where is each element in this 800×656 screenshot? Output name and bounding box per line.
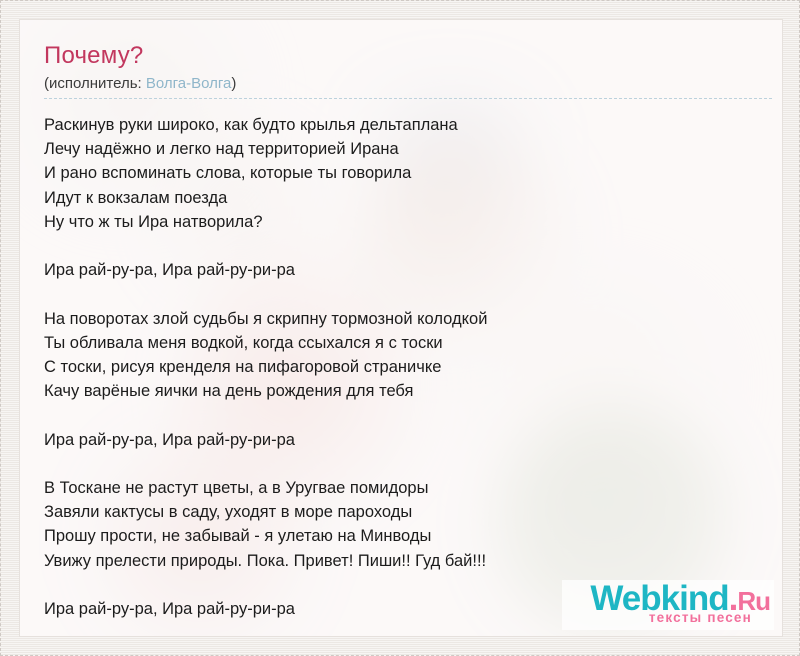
title-separator: [44, 98, 772, 99]
site-logo[interactable]: Webkind.Ru тексты песен: [562, 580, 774, 630]
lyric-line: Завяли кактусы в саду, уходят в море пар…: [44, 500, 758, 524]
artist-prefix-label: (исполнитель:: [44, 75, 146, 92]
lyric-line-blank: [44, 452, 758, 476]
card-content: Почему? (исполнитель: Волга-Волга) Раски…: [20, 20, 782, 636]
lyric-line: Ира рай-ру-ра, Ира рай-ру-ри-ра: [44, 258, 758, 282]
lyric-line: Раскинув руки широко, как будто крылья д…: [44, 113, 758, 137]
lyric-line-blank: [44, 234, 758, 258]
lyric-line: На поворотах злой судьбы я скрипну тормо…: [44, 307, 758, 331]
lyric-line-blank: [44, 282, 758, 306]
lyric-line-blank: [44, 403, 758, 427]
lyric-line: В Тоскане не растут цветы, а в Уругвае п…: [44, 476, 758, 500]
artist-link[interactable]: Волга-Волга: [146, 75, 232, 92]
lyric-line: Лечу надёжно и легко над территорией Ира…: [44, 137, 758, 161]
song-title: Почему?: [44, 42, 758, 70]
lyric-line: И рано вспоминать слова, которые ты гово…: [44, 161, 758, 185]
lyric-line: Идут к вокзалам поезда: [44, 186, 758, 210]
artist-suffix-label: ): [231, 75, 236, 92]
lyric-line: Качу варёные яички на день рождения для …: [44, 379, 758, 403]
lyrics-card: Почему? (исполнитель: Волга-Волга) Раски…: [19, 19, 783, 637]
page-frame: Почему? (исполнитель: Волга-Волга) Раски…: [0, 0, 800, 656]
lyric-line: С тоски, рисуя кренделя на пифагоровой с…: [44, 355, 758, 379]
lyric-line: Увижу прелести природы. Пока. Привет! Пи…: [44, 549, 758, 573]
artist-line: (исполнитель: Волга-Волга): [44, 74, 758, 93]
lyrics-body: Раскинув руки широко, как будто крылья д…: [44, 113, 758, 621]
lyric-line: Прошу прости, не забывай - я улетаю на М…: [44, 524, 758, 548]
lyric-line: Ты обливала меня водкой, когда ссыхался …: [44, 331, 758, 355]
lyric-line: Ира рай-ру-ра, Ира рай-ру-ри-ра: [44, 428, 758, 452]
lyric-line: Ну что ж ты Ира натворила?: [44, 210, 758, 234]
